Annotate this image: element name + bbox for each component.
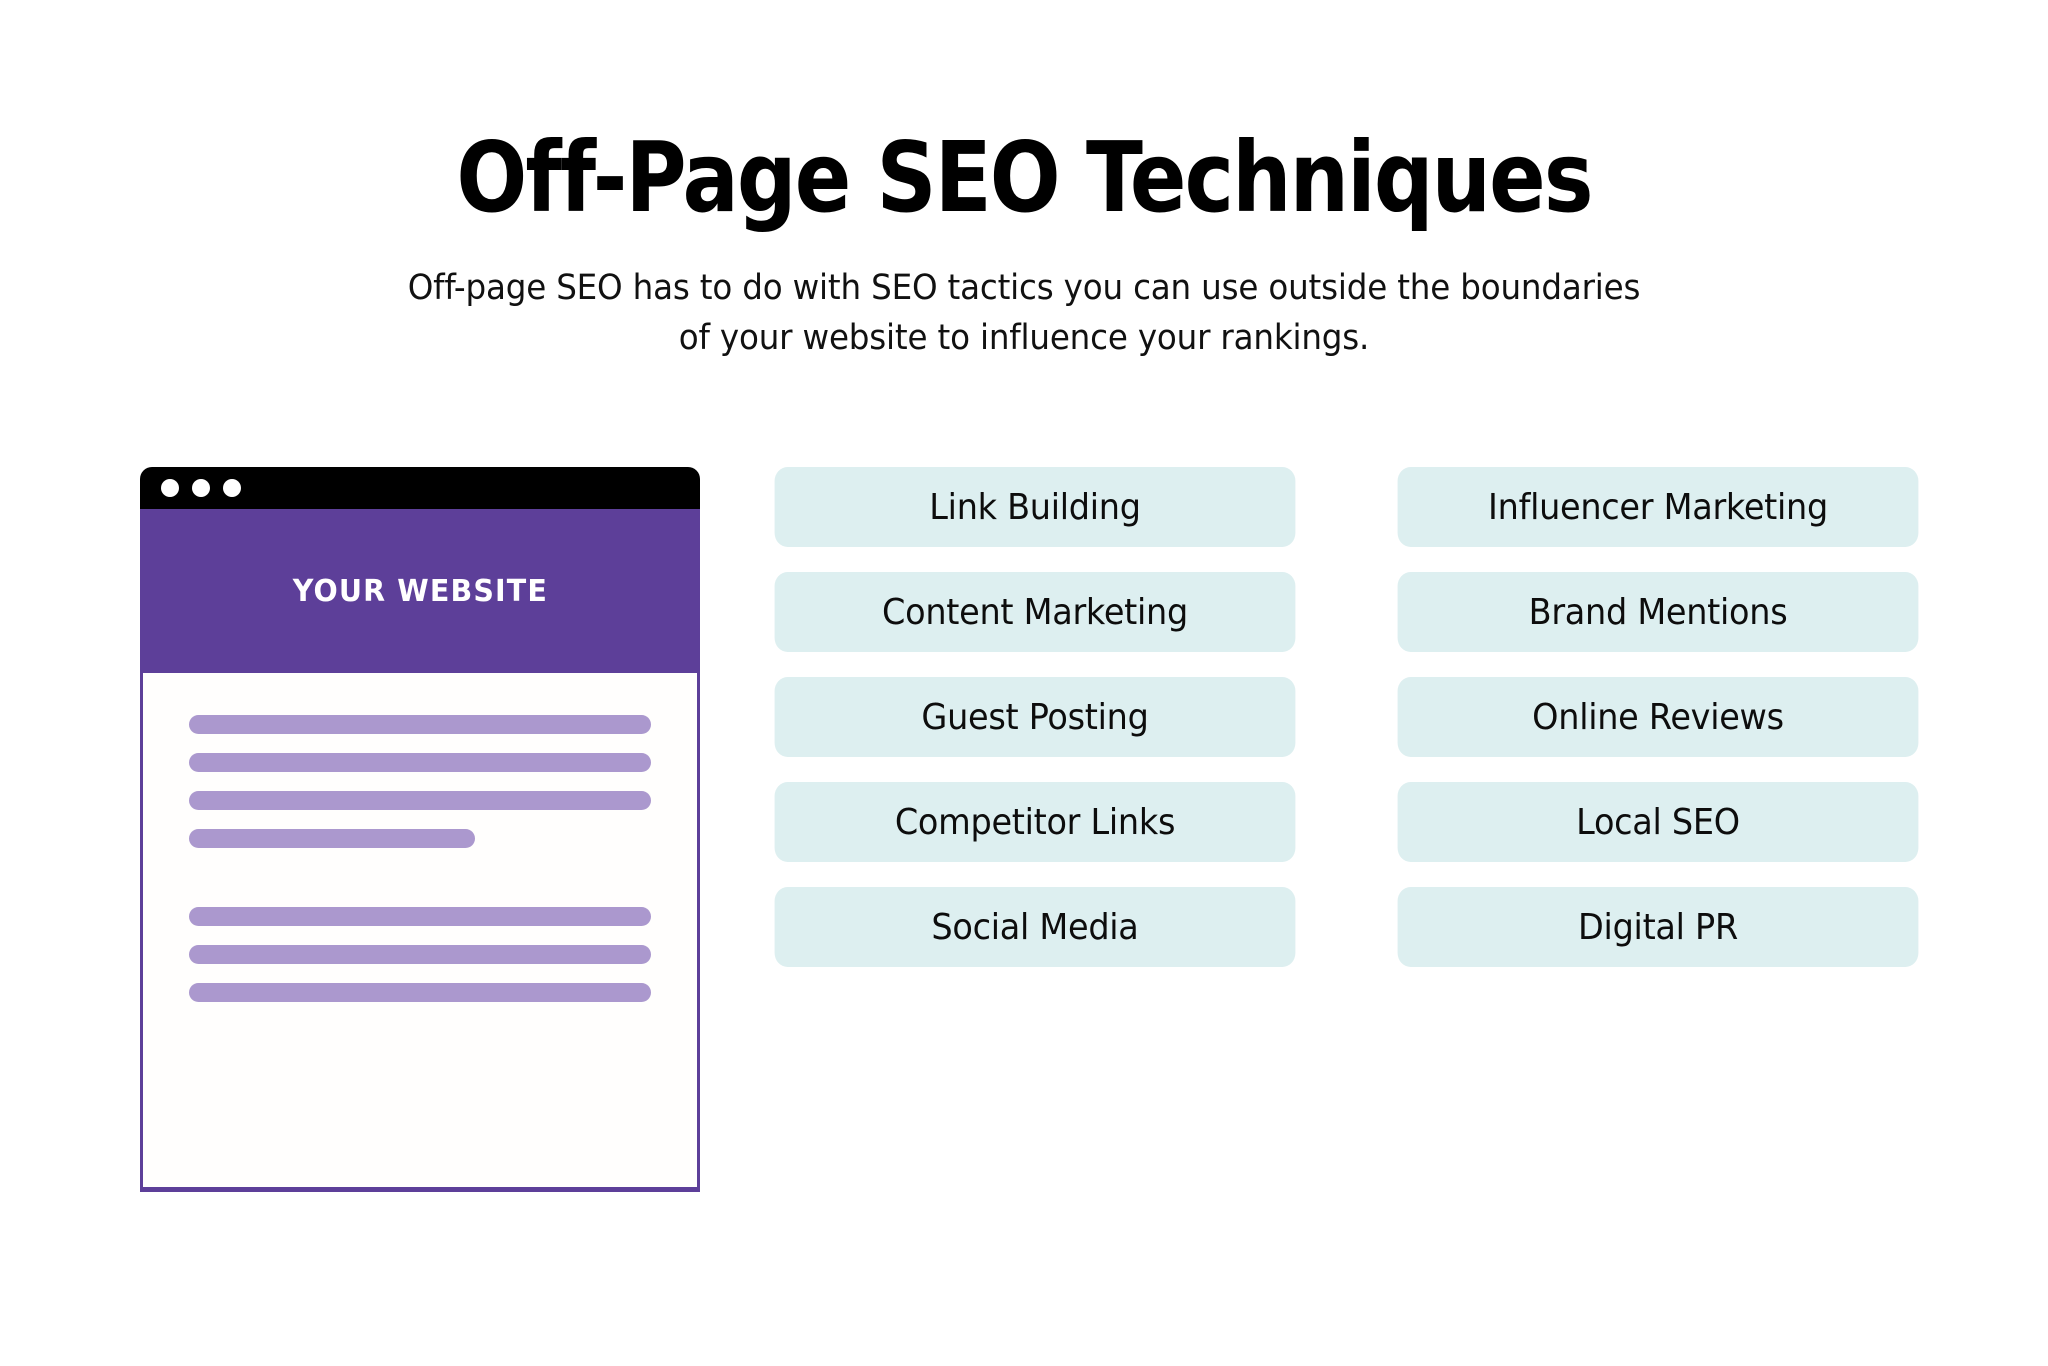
infographic-canvas: Off-Page SEO Techniques Off-page SEO has…	[0, 0, 2048, 1366]
page-subtitle: Off-page SEO has to do with SEO tactics …	[72, 263, 1977, 364]
content-line	[189, 907, 651, 926]
browser-hero-title: YOUR WEBSITE	[292, 574, 547, 609]
content-line	[189, 753, 651, 772]
content-line	[189, 715, 651, 734]
technique-pill-link-building[interactable]: Link Building	[775, 467, 1296, 547]
content-line	[189, 983, 651, 1002]
technique-pill-content-marketing[interactable]: Content Marketing	[775, 572, 1296, 652]
technique-pill-digital-pr[interactable]: Digital PR	[1398, 887, 1919, 967]
techniques-grid: Link Building Content Marketing Guest Po…	[755, 467, 1938, 967]
technique-pill-brand-mentions[interactable]: Brand Mentions	[1398, 572, 1919, 652]
browser-content-area	[140, 673, 700, 1192]
browser-titlebar	[140, 467, 700, 509]
minimize-dot-icon	[192, 479, 210, 497]
content-line-group-1	[189, 715, 651, 867]
close-dot-icon	[161, 479, 179, 497]
technique-pill-social-media[interactable]: Social Media	[775, 887, 1296, 967]
content-line	[189, 829, 475, 848]
content-line	[189, 791, 651, 810]
page-subtitle-line-2: of your website to influence your rankin…	[72, 313, 1977, 363]
browser-window-illustration: YOUR WEBSITE	[140, 467, 700, 1192]
technique-pill-competitor-links[interactable]: Competitor Links	[775, 782, 1296, 862]
technique-pill-influencer-marketing[interactable]: Influencer Marketing	[1398, 467, 1919, 547]
header: Off-Page SEO Techniques Off-page SEO has…	[0, 128, 2048, 364]
page-subtitle-line-1: Off-page SEO has to do with SEO tactics …	[72, 263, 1977, 313]
maximize-dot-icon	[223, 479, 241, 497]
browser-hero-banner: YOUR WEBSITE	[140, 509, 700, 673]
content-line-group-2	[189, 907, 651, 1021]
technique-pill-online-reviews[interactable]: Online Reviews	[1398, 677, 1919, 757]
page-title: Off-Page SEO Techniques	[143, 128, 1904, 229]
technique-pill-guest-posting[interactable]: Guest Posting	[775, 677, 1296, 757]
content-line	[189, 945, 651, 964]
content-line-group-divider	[189, 867, 651, 907]
technique-pill-local-seo[interactable]: Local SEO	[1398, 782, 1919, 862]
